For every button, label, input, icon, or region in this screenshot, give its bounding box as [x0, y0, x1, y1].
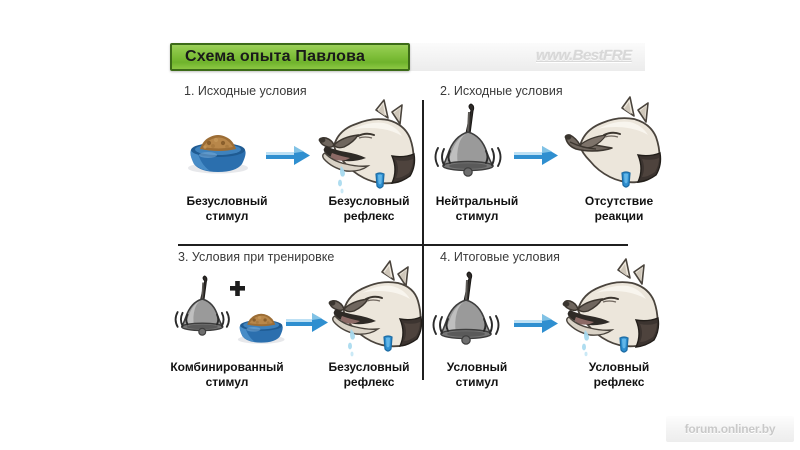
- quadrant-1-labels: Безусловный стимул Безусловный рефлекс: [164, 194, 432, 223]
- diagram-canvas: Схема опыта Павлова www.BestFRE 1. Исход…: [0, 0, 800, 450]
- quadrant-4-labels: Условный стимул Условный рефлекс: [414, 360, 682, 389]
- quadrant-3-heading: 3. Условия при тренировке: [178, 250, 334, 264]
- quadrant-2-response-label: Отсутствие реакции: [556, 194, 682, 223]
- quadrant-3-training-conditions: 3. Условия при тренировке: [178, 250, 418, 408]
- forum-watermark-text: forum.onliner.by: [685, 422, 776, 436]
- quadrant-4-final-conditions: 4. Итоговые условия: [428, 250, 668, 408]
- quadrant-4-stage: [428, 268, 668, 358]
- quadrant-4-stimulus-label: Условный стимул: [414, 360, 540, 389]
- plus-symbol: [230, 281, 245, 296]
- quadrant-3-stage: [178, 268, 418, 358]
- ringing-bell-icon: [434, 272, 499, 344]
- quadrant-2-initial-conditions: 2. Исходные условия: [428, 84, 668, 242]
- food-bowl-icon: [238, 314, 285, 344]
- quadrant-1-initial-conditions: 1. Исходные условия: [178, 84, 418, 242]
- quadrant-1-heading: 1. Исходные условия: [184, 84, 307, 98]
- page-title: Схема опыта Павлова: [172, 48, 365, 66]
- quadrant-4-response-label: Условный рефлекс: [556, 360, 682, 389]
- blue-arrow-icon: [514, 146, 558, 165]
- ringing-bell-icon: [436, 104, 501, 176]
- quadrant-3-labels: Комбинированный стимул Безусловный рефле…: [164, 360, 432, 389]
- quadrant-2-heading: 2. Исходные условия: [440, 84, 563, 98]
- dog-salivating-icon: [563, 259, 659, 356]
- dog-salivating-icon: [329, 261, 422, 356]
- quadrant-4-heading: 4. Итоговые условия: [440, 250, 560, 264]
- food-bowl-icon: [188, 135, 248, 174]
- divider-horizontal: [178, 244, 628, 246]
- quadrant-3-stimulus-label: Комбинированный стимул: [164, 360, 290, 389]
- quadrant-1-stimulus-label: Безусловный стимул: [164, 194, 290, 223]
- dog-salivating-icon: [319, 100, 415, 193]
- blue-arrow-icon: [286, 313, 328, 332]
- quadrant-2-labels: Нейтральный стимул Отсутствие реакции: [414, 194, 682, 223]
- ringing-bell-icon: [176, 276, 229, 335]
- dog-no-reaction-icon: [565, 97, 661, 187]
- saliva-drops-icon: [582, 330, 589, 356]
- quadrant-1-stage: [178, 102, 418, 192]
- quadrant-2-stage: [428, 102, 668, 192]
- site-watermark: www.BestFRE: [536, 47, 644, 67]
- saliva-drops-icon: [338, 166, 345, 193]
- forum-watermark: forum.onliner.by: [666, 416, 794, 442]
- blue-arrow-icon: [266, 146, 310, 165]
- saliva-drops-icon: [348, 329, 355, 356]
- blue-arrow-icon: [514, 314, 558, 333]
- quadrant-2-stimulus-label: Нейтральный стимул: [414, 194, 540, 223]
- divider-vertical: [422, 100, 424, 380]
- title-bar: Схема опыта Павлова: [170, 43, 410, 71]
